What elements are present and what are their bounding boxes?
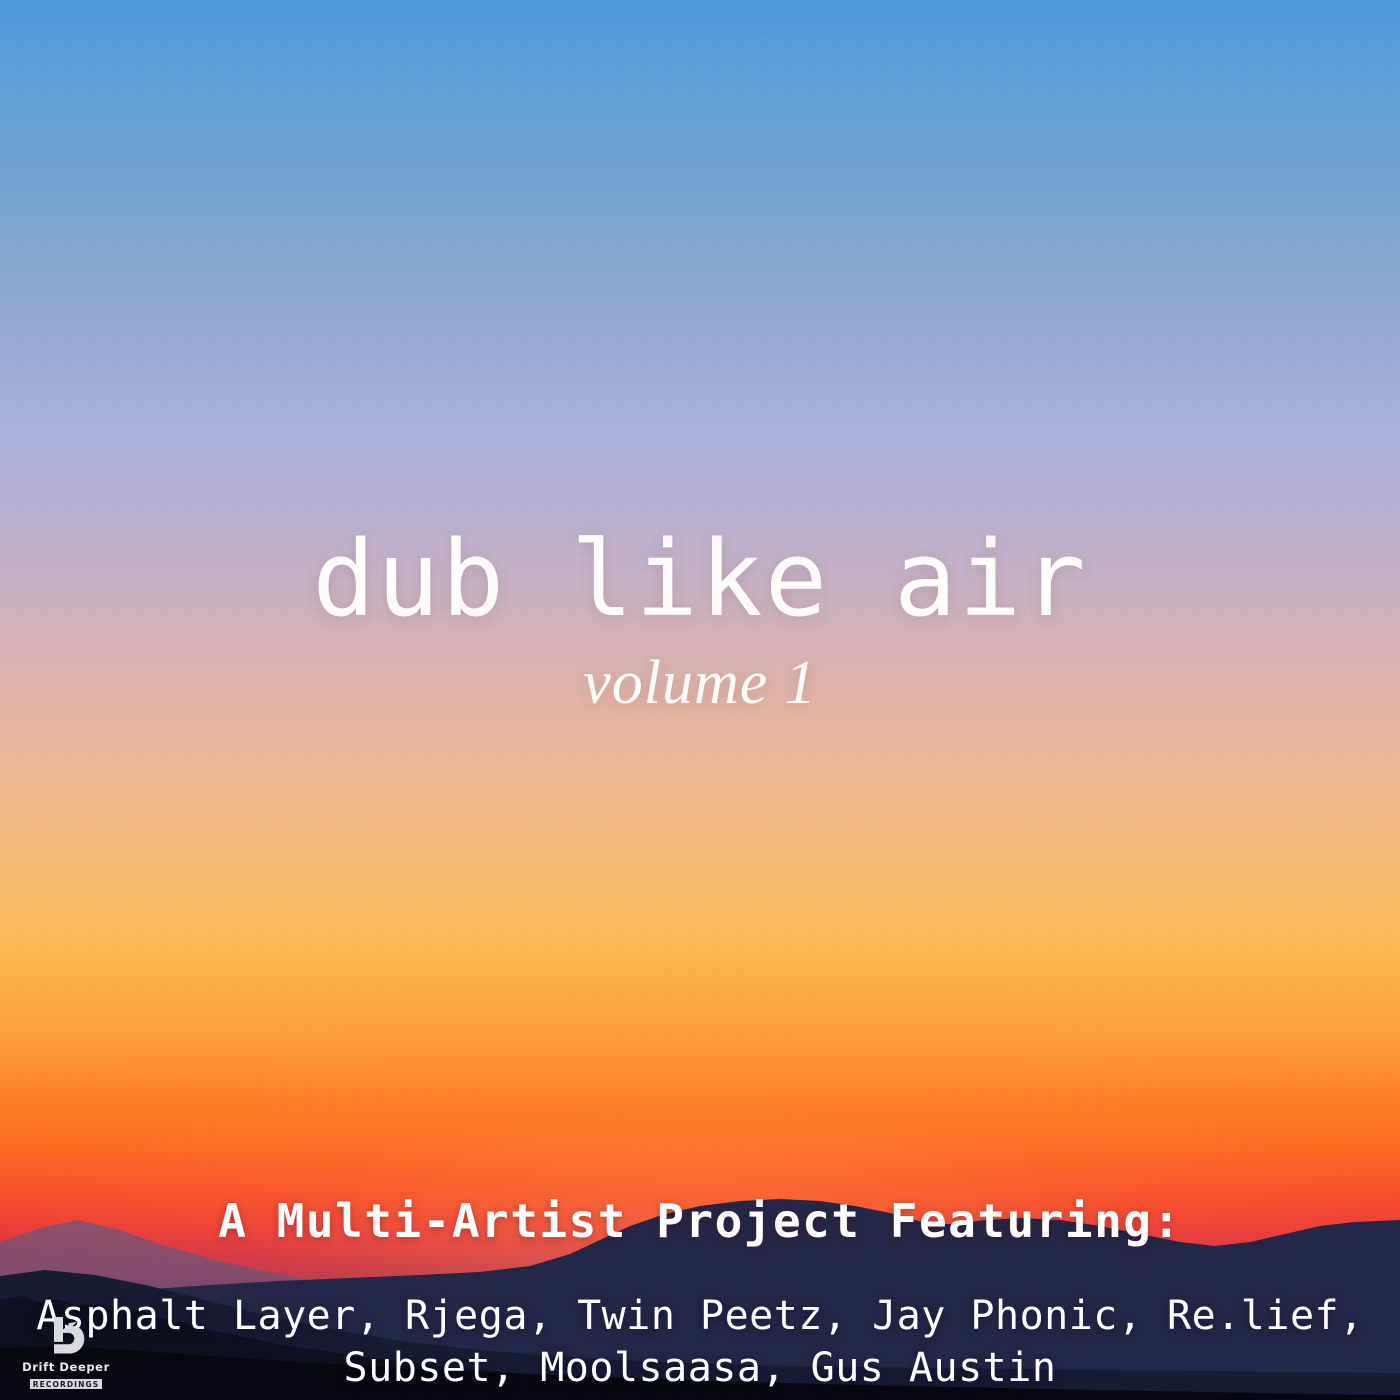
drift-deeper-mark-icon [43,1313,89,1359]
album-volume: volume 1 [0,648,1400,719]
album-cover: dub like air volume 1 A Multi-Artist Pro… [0,0,1400,1400]
label-name: Drift Deeper [18,1360,114,1374]
label-sub: RECORDINGS [30,1379,102,1389]
album-title: dub like air [0,524,1400,634]
artist-list-line-2: Subset, Moolsaasa, Gus Austin [0,1342,1400,1394]
title-block: dub like air volume 1 [0,524,1400,719]
artist-list-line-1: Asphalt Layer, Rjega, Twin Peetz, Jay Ph… [0,1290,1400,1342]
label-logo: Drift Deeper RECORDINGS [18,1313,114,1392]
credits-heading: A Multi-Artist Project Featuring: [0,1196,1400,1248]
credits-block: A Multi-Artist Project Featuring: Asphal… [0,1196,1400,1394]
artist-list: Asphalt Layer, Rjega, Twin Peetz, Jay Ph… [0,1290,1400,1394]
